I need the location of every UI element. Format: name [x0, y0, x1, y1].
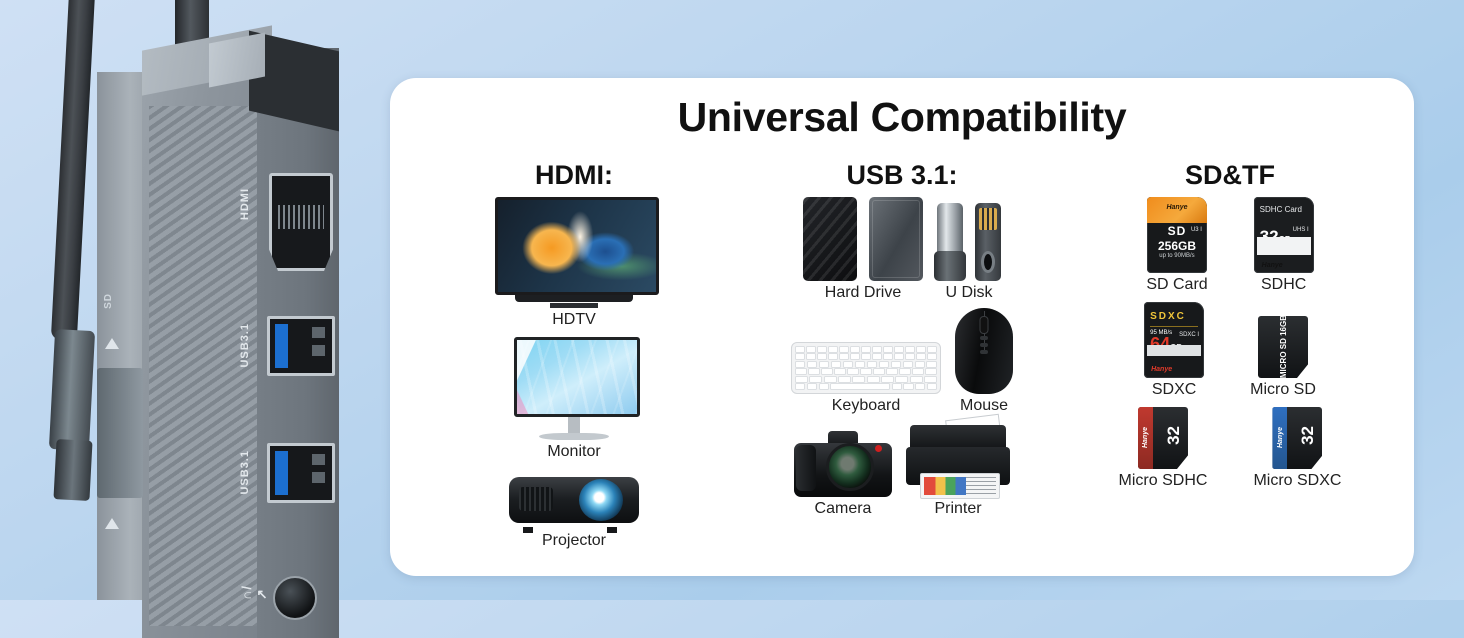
- micro-sdhc-brand-mark: Hanye: [1142, 427, 1149, 448]
- slot-arrow-icon: [105, 338, 119, 349]
- column-usb: USB 3.1: Hard Drive U: [738, 160, 1066, 566]
- micro-sdxc-capacity: 32: [1298, 426, 1318, 445]
- item-camera: Camera: [794, 431, 892, 518]
- sd-row-1: Hanye SD U3 I 256GB up to 90MB/s SD Card: [1146, 197, 1313, 294]
- compatibility-columns: HDMI: HDTV: [410, 160, 1394, 566]
- sdxc-card-icon: SDXC 95 MB/s SDXC I 64GB Hanye: [1144, 302, 1204, 378]
- micro-sd-card-icon: MICRO SD 16GB: [1258, 316, 1308, 378]
- usb-port-2-label: USB3.1: [239, 450, 251, 495]
- item-label: Printer: [934, 500, 981, 518]
- item-label: Hard Drive: [825, 284, 901, 302]
- sd-slot-label: SD: [103, 293, 114, 309]
- item-label: Projector: [542, 532, 606, 550]
- item-label: HDTV: [552, 311, 596, 329]
- item-micro-sdxc: Hanye 32 Micro SDXC: [1253, 407, 1341, 490]
- usb-port-2: [267, 443, 335, 503]
- slot-arrow-icon-2: [105, 518, 119, 529]
- item-u-disk: U Disk: [937, 203, 1001, 302]
- column-heading-usb: USB 3.1:: [846, 160, 957, 191]
- item-label: Micro SDHC: [1119, 472, 1208, 490]
- sd-row-3: Hanye 32 Micro SDHC Hanye 32: [1119, 407, 1342, 490]
- item-monitor: Monitor: [514, 337, 634, 461]
- sd-card-slot: [97, 368, 143, 498]
- usb-port-1: [267, 316, 335, 376]
- usb-c-cable: [51, 0, 95, 340]
- item-mouse: Mouse: [955, 308, 1013, 415]
- item-label: SD Card: [1146, 276, 1207, 294]
- item-micro-sdhc: Hanye 32 Micro SDHC: [1119, 407, 1208, 490]
- hdtv-icon: [495, 197, 653, 308]
- sdhc-brand-mark: Hanye: [1262, 262, 1283, 269]
- item-label: Micro SD: [1250, 381, 1316, 399]
- usb-row-3: Camera Printer: [794, 421, 1010, 518]
- item-label: SDHC: [1261, 276, 1306, 294]
- item-label: Keyboard: [832, 397, 901, 415]
- compatibility-panel: Universal Compatibility HDMI: HDTV: [390, 78, 1414, 576]
- sd-capacity: 256GB: [1147, 239, 1207, 253]
- column-hdmi: HDMI: HDTV: [410, 160, 738, 566]
- item-hard-drive: Hard Drive: [803, 197, 923, 302]
- sd-badge: U3 I: [1191, 227, 1202, 233]
- sdhc-head: SDHC Card: [1260, 205, 1302, 214]
- micro-sdhc-capacity: 32: [1164, 426, 1184, 445]
- item-keyboard: Keyboard: [791, 342, 941, 415]
- column-heading-sd-tf: SD&TF: [1185, 160, 1275, 191]
- product-photo: HDMI USB3.1 USB3.1 ∩/↗ SD: [0, 0, 345, 600]
- mouse-icon: [955, 308, 1013, 394]
- usb-row-2: Keyboard Mouse: [791, 308, 1013, 415]
- usb-row-1: Hard Drive U Disk: [803, 197, 1001, 302]
- column-heading-hdmi: HDMI:: [535, 160, 613, 191]
- sdxc-brand-mark: Hanye: [1151, 366, 1172, 373]
- item-label: Micro SDXC: [1253, 472, 1341, 490]
- hard-drive-icon: [803, 197, 923, 281]
- item-projector: Projector: [509, 467, 639, 550]
- camera-icon: [794, 431, 892, 497]
- monitor-icon: [514, 337, 634, 440]
- sd-card-icon: Hanye SD U3 I 256GB up to 90MB/s: [1147, 197, 1207, 273]
- projector-icon: [509, 467, 639, 529]
- infographic-stage: HDMI USB3.1 USB3.1 ∩/↗ SD Universal Comp…: [0, 0, 1464, 600]
- printer-icon: [906, 421, 1010, 497]
- usb-port-1-label: USB3.1: [239, 323, 251, 368]
- micro-sdxc-brand-mark: Hanye: [1277, 427, 1284, 448]
- item-sdxc: SDXC 95 MB/s SDXC I 64GB Hanye SDXC: [1144, 302, 1204, 399]
- item-label: Camera: [815, 500, 872, 518]
- column-sd-tf: SD&TF Hanye SD U3 I 256GB up to 90MB/s: [1066, 160, 1394, 566]
- page-title: Universal Compatibility: [390, 94, 1414, 141]
- sd-row-2: SDXC 95 MB/s SDXC I 64GB Hanye SDXC: [1144, 302, 1316, 399]
- usb-c-plug-body: [49, 329, 95, 451]
- hdmi-port: [269, 173, 333, 271]
- item-label: Monitor: [547, 443, 600, 461]
- audio-jack-label: ∩/↗: [239, 574, 269, 600]
- sdhc-card-icon: SDHC Card UHS I 32GB Hanye: [1254, 197, 1314, 273]
- micro-sdxc-card-icon: Hanye 32: [1272, 407, 1322, 469]
- micro-sd-text: MICRO SD 16GB: [1279, 316, 1288, 378]
- sd-speed: up to 90MB/s: [1147, 253, 1207, 259]
- hdmi-port-label: HDMI: [239, 188, 251, 220]
- item-printer: Printer: [906, 421, 1010, 518]
- sdxc-head: SDXC: [1150, 311, 1186, 322]
- usb-flash-drive-icon: [937, 203, 1001, 281]
- item-sd-card: Hanye SD U3 I 256GB up to 90MB/s SD Card: [1146, 197, 1207, 294]
- item-hdtv: HDTV: [495, 197, 653, 329]
- sdhc-badge: UHS I: [1293, 227, 1309, 233]
- item-label: U Disk: [945, 284, 992, 302]
- audio-jack-port: [273, 576, 317, 620]
- item-micro-sd: MICRO SD 16GB Micro SD: [1250, 316, 1316, 399]
- item-label: Mouse: [960, 397, 1008, 415]
- docking-station: HDMI USB3.1 USB3.1 ∩/↗ SD: [97, 38, 325, 600]
- keyboard-icon: [791, 342, 941, 394]
- micro-sdhc-card-icon: Hanye 32: [1138, 407, 1188, 469]
- item-sdhc: SDHC Card UHS I 32GB Hanye SDHC: [1254, 197, 1314, 294]
- sd-brand-mark: Hanye: [1147, 204, 1207, 211]
- item-label: SDXC: [1152, 381, 1196, 399]
- usb-c-plug-tip: [53, 439, 92, 501]
